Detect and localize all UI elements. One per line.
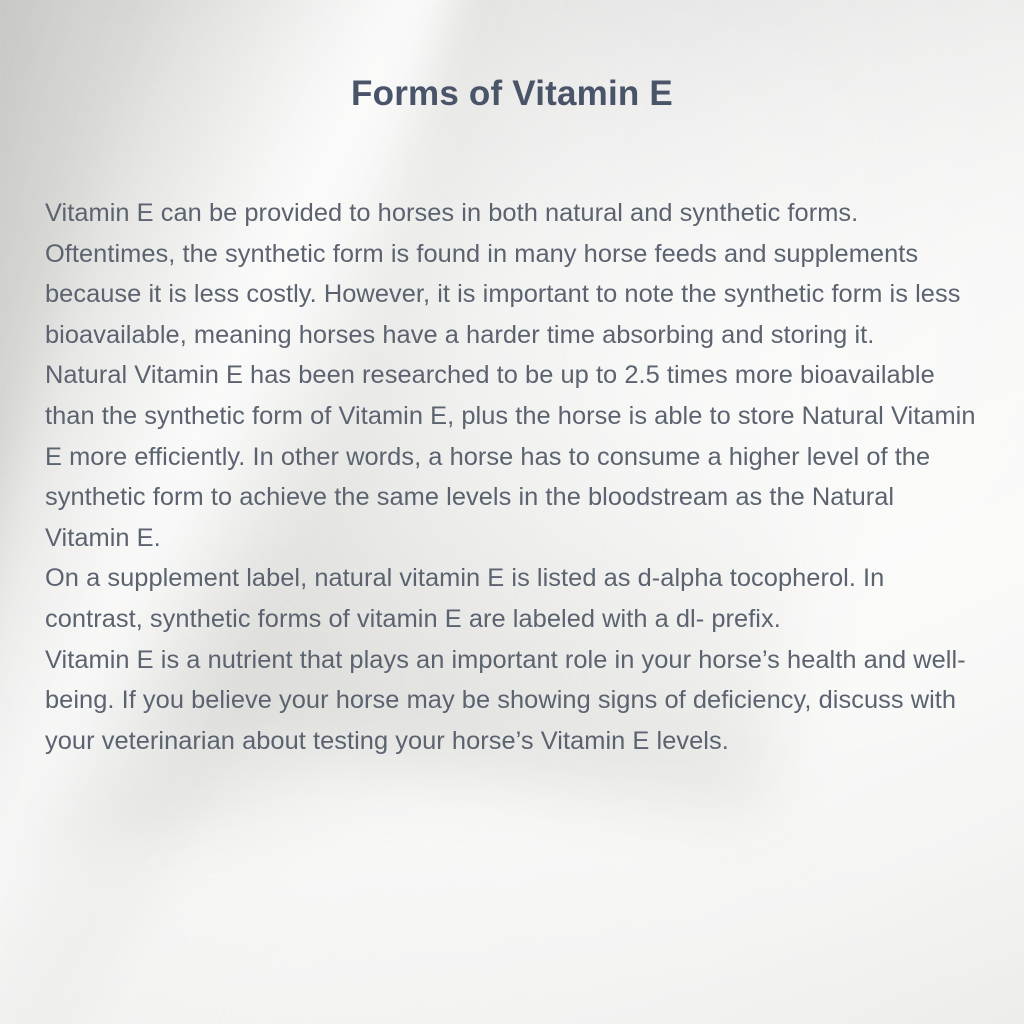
paragraph-1: Vitamin E can be provided to horses in b… — [45, 193, 985, 355]
document-content: Forms of Vitamin E Vitamin E can be prov… — [0, 0, 1024, 1024]
paragraph-3: On a supplement label, natural vitamin E… — [45, 558, 985, 639]
paragraph-2: Natural Vitamin E has been researched to… — [45, 355, 985, 558]
page-title: Forms of Vitamin E — [0, 74, 1024, 114]
article-body: Vitamin E can be provided to horses in b… — [45, 193, 985, 761]
paragraph-4: Vitamin E is a nutrient that plays an im… — [45, 640, 985, 762]
infographic-canvas: Forms of Vitamin E Vitamin E can be prov… — [0, 0, 1024, 1024]
